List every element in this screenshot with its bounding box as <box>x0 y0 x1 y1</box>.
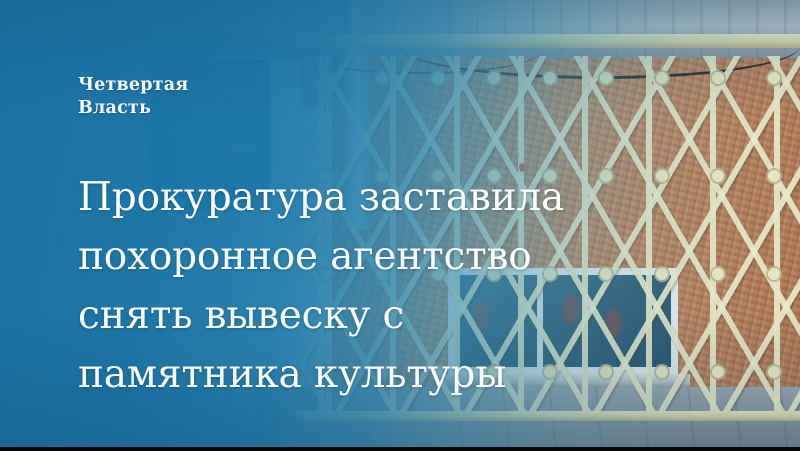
headline-line: Прокуратура заставила <box>78 168 658 227</box>
social-share-card: ПАМЯТНИК МЕМОРИАЛЬНЫЙ КОМПЛЕКС ритуальны… <box>0 0 800 451</box>
article-headline: Прокуратура заставила похоронное агентст… <box>78 168 658 404</box>
site-logo-line-1: Четвертая <box>78 74 760 97</box>
card-content: Четвертая Власть Прокуратура заставила п… <box>78 74 760 404</box>
headline-line: похоронное агентство <box>78 227 658 286</box>
site-logo[interactable]: Четвертая Власть <box>78 74 760 121</box>
site-logo-line-2: Власть <box>78 97 760 120</box>
headline-line: памятника культуры <box>78 345 658 404</box>
headline-line: снять вывеску с <box>78 286 658 345</box>
bottom-bar <box>0 447 800 451</box>
